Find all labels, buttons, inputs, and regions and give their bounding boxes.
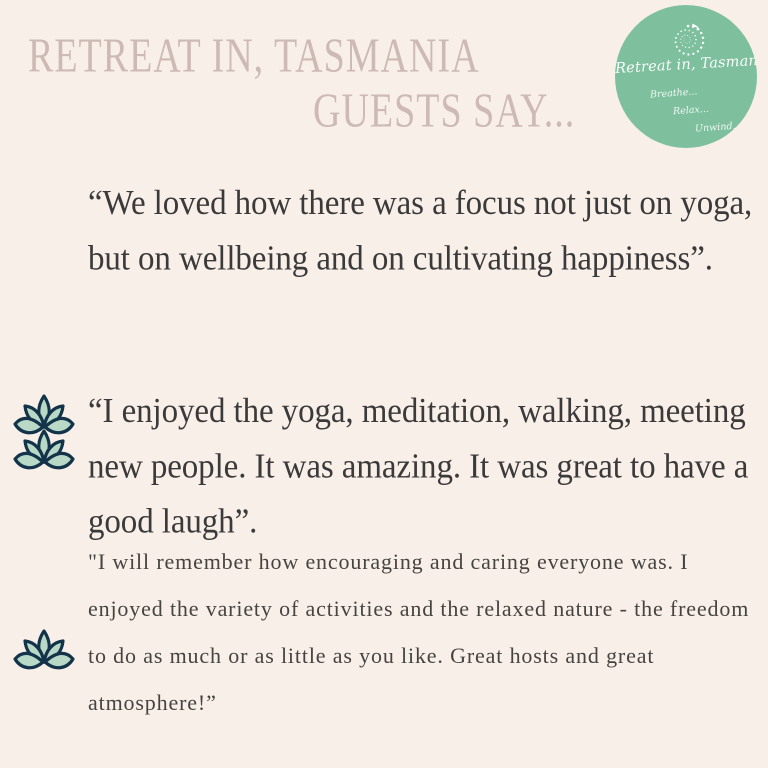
page-title-line-2: GUESTS SAY... (313, 87, 575, 136)
testimonial-3-text: "I will remember how encouraging and car… (88, 538, 760, 726)
page-title-line-1: RETREAT IN, TASMANIA (28, 32, 480, 81)
testimonial-1-text: “We loved how there was a focus not just… (88, 176, 760, 286)
logo-tagline-relax: Relax... (673, 104, 710, 117)
brand-logo: Retreat in, Tasmania Breathe... Relax...… (615, 5, 757, 148)
testimonial-graphic: RETREAT IN, TASMANIA GUESTS SAY... (0, 0, 768, 768)
testimonial-2-text: “I enjoyed the yoga, meditation, walking… (88, 384, 760, 549)
lotus-icon (12, 628, 76, 680)
logo-brand-name: Retreat in, Tasmania (615, 53, 757, 77)
logo-tagline-breathe: Breathe... (650, 86, 698, 100)
lotus-icon (12, 428, 76, 480)
